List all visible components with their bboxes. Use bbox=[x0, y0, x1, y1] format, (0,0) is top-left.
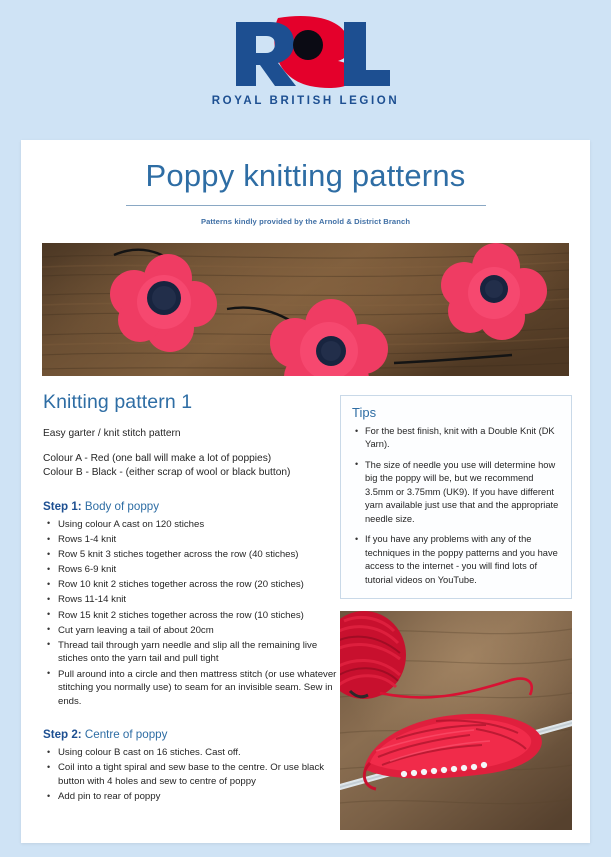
step-2-list: Using colour B cast on 16 stiches. Cast … bbox=[43, 746, 339, 803]
step-1-list: Using colour A cast on 120 stiches Rows … bbox=[43, 518, 339, 708]
step-2-title: Centre of poppy bbox=[85, 728, 168, 741]
pattern-column: Knitting pattern 1 Easy garter / knit st… bbox=[43, 391, 339, 824]
list-item: Rows 11-14 knit bbox=[58, 593, 339, 607]
brand-logo: ROYAL BRITISH LEGION bbox=[0, 14, 611, 107]
knitting-progress-photo bbox=[340, 611, 572, 830]
list-item: Add pin to rear of poppy bbox=[58, 790, 339, 804]
list-item: If you have any problems with any of the… bbox=[365, 533, 560, 587]
tips-list: For the best finish, knit with a Double … bbox=[352, 425, 560, 587]
list-item: Rows 1-4 knit bbox=[58, 533, 339, 547]
colour-list: Colour A - Red (one ball will make a lot… bbox=[43, 452, 339, 480]
colour-b-line: Colour B - Black - (either scrap of wool… bbox=[43, 466, 339, 480]
list-item: Row 10 knit 2 stiches together across th… bbox=[58, 578, 339, 592]
list-item: Cut yarn leaving a tail of about 20cm bbox=[58, 624, 339, 638]
poppies-banner-photo bbox=[42, 243, 569, 376]
list-item: Thread tail through yarn needle and slip… bbox=[58, 639, 339, 666]
pattern-heading: Knitting pattern 1 bbox=[43, 391, 339, 414]
content-card: Poppy knitting patterns Patterns kindly … bbox=[21, 140, 590, 843]
page-subtitle: Patterns kindly provided by the Arnold &… bbox=[21, 217, 590, 226]
step-2-heading: Step 2: Centre of poppy bbox=[43, 728, 339, 741]
title-divider bbox=[126, 205, 486, 206]
tips-box: Tips For the best finish, knit with a Do… bbox=[340, 395, 572, 599]
document-page: ROYAL BRITISH LEGION Poppy knitting patt… bbox=[0, 0, 611, 857]
list-item: For the best finish, knit with a Double … bbox=[365, 425, 560, 452]
tips-column: Tips For the best finish, knit with a Do… bbox=[340, 395, 572, 830]
list-item: Using colour B cast on 16 stiches. Cast … bbox=[58, 746, 339, 760]
page-header: ROYAL BRITISH LEGION bbox=[0, 0, 611, 140]
list-item: Coil into a tight spiral and sew base to… bbox=[58, 761, 339, 788]
page-title: Poppy knitting patterns bbox=[21, 140, 590, 194]
step-1-title: Body of poppy bbox=[85, 500, 159, 513]
step-1-heading: Step 1: Body of poppy bbox=[43, 500, 339, 513]
list-item: The size of needle you use will determin… bbox=[365, 459, 560, 526]
list-item: Row 15 knit 2 stiches together across th… bbox=[58, 609, 339, 623]
pattern-lead: Easy garter / knit stitch pattern bbox=[43, 428, 339, 441]
list-item: Pull around into a circle and then mattr… bbox=[58, 668, 339, 709]
tips-heading: Tips bbox=[352, 405, 560, 420]
list-item: Using colour A cast on 120 stiches bbox=[58, 518, 339, 532]
rbl-poppy-logo-icon bbox=[218, 14, 394, 88]
list-item: Row 5 knit 3 stiches together across the… bbox=[58, 548, 339, 562]
step-2-label: Step 2: bbox=[43, 728, 82, 741]
brand-name: ROYAL BRITISH LEGION bbox=[212, 95, 399, 107]
step-1-label: Step 1: bbox=[43, 500, 82, 513]
list-item: Rows 6-9 knit bbox=[58, 563, 339, 577]
colour-a-line: Colour A - Red (one ball will make a lot… bbox=[43, 452, 339, 466]
